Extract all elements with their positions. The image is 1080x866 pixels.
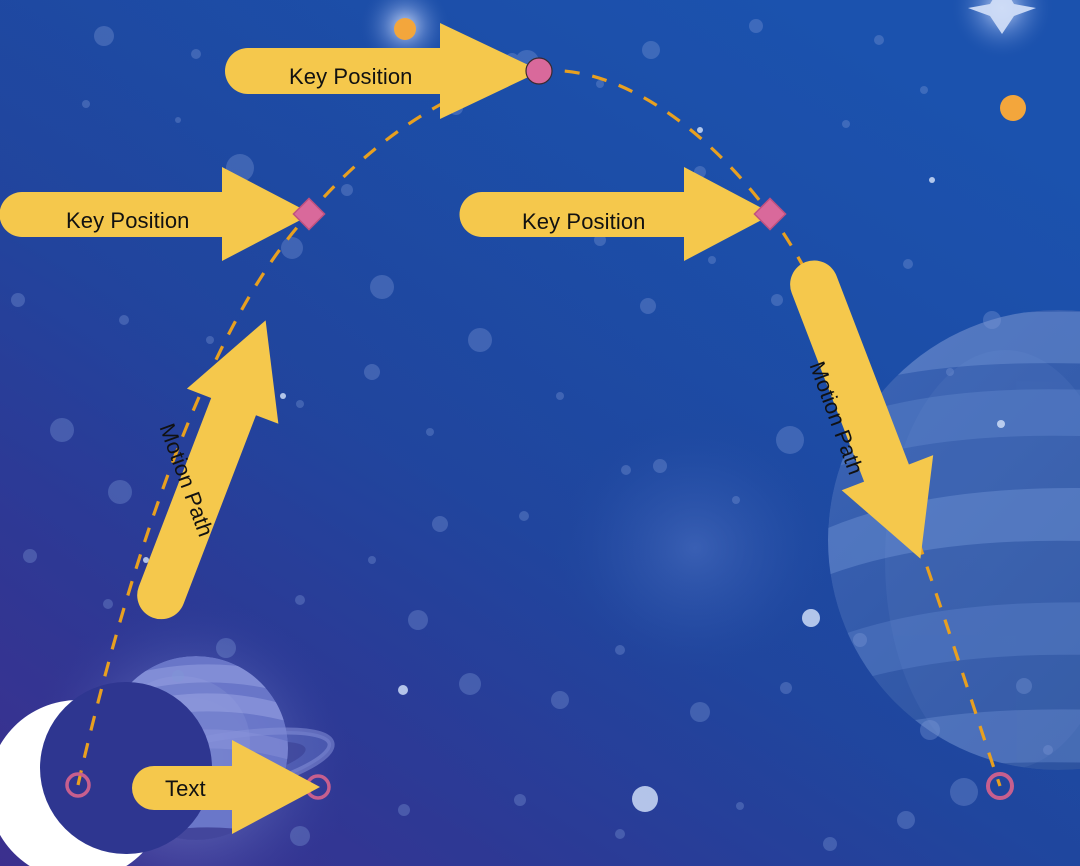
space-background [0, 0, 1080, 866]
keyframe-circle-2 [526, 58, 552, 84]
diagram-canvas: Key Position Key Position Key Position M… [0, 0, 1080, 866]
orange-star-dot-top [394, 18, 416, 40]
orange-star-dot-right [1000, 95, 1026, 121]
